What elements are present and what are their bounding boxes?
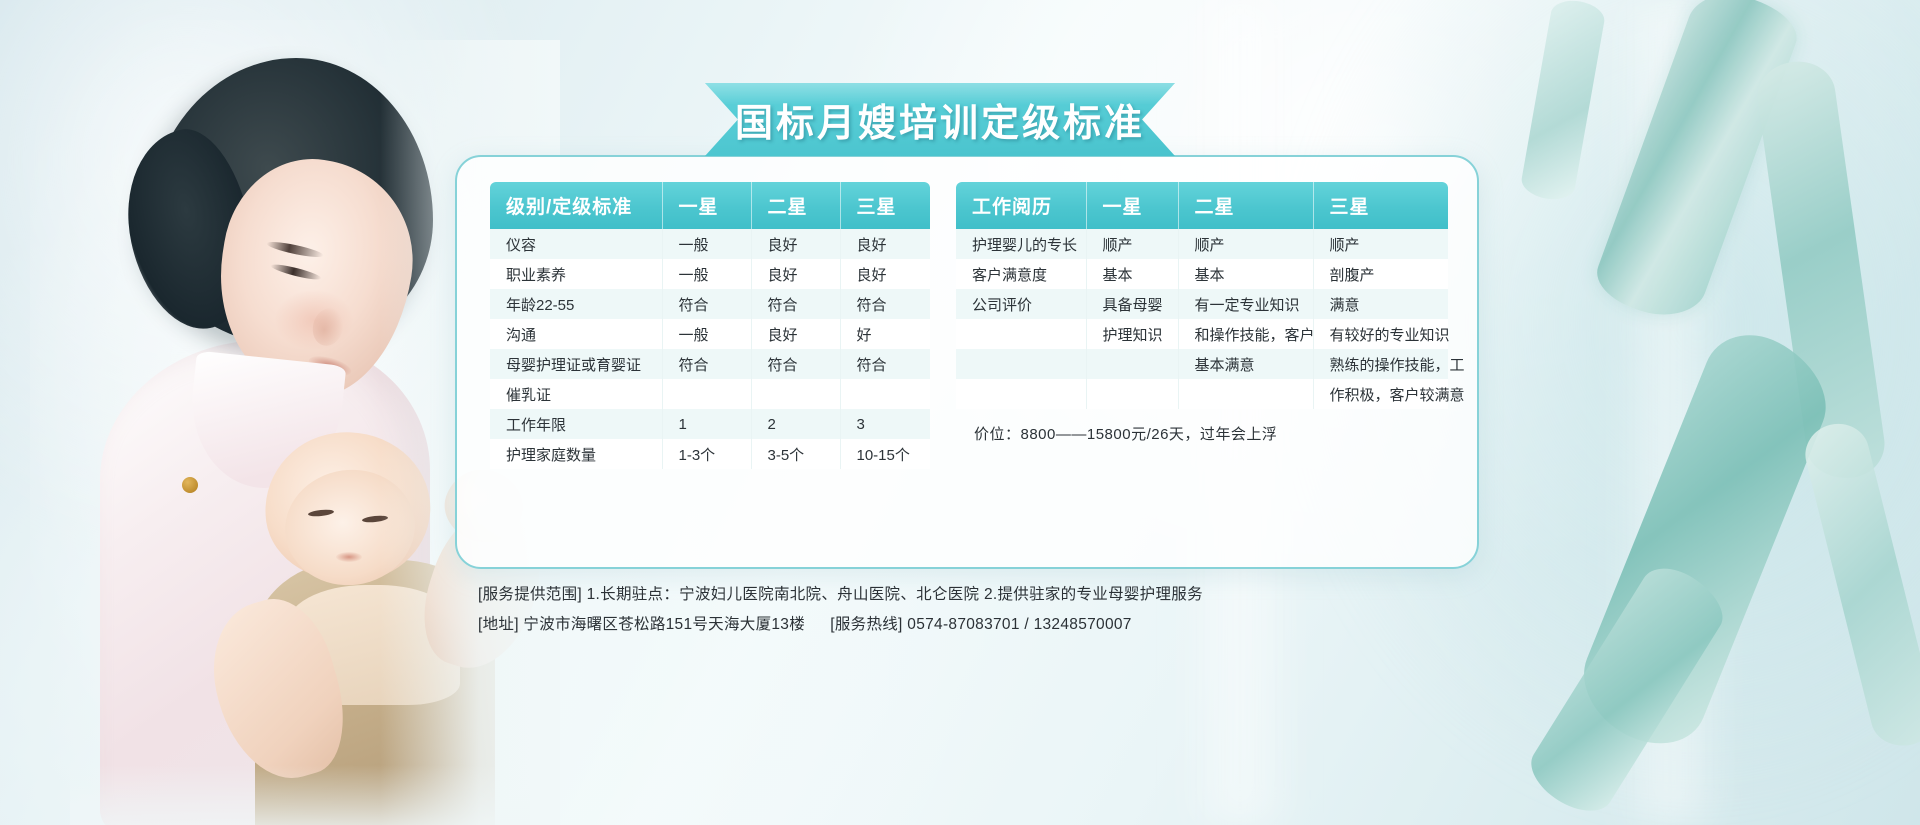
cell-criteria: 催乳证	[490, 379, 662, 409]
cell-criteria: 年龄22-55	[490, 289, 662, 319]
cell-two-star: 和操作技能，客户	[1178, 319, 1313, 349]
cell-one-star: 1-3个	[662, 439, 751, 469]
cell-three-star: 熟练的操作技能，工	[1313, 349, 1448, 379]
left-col-header-three-star: 三星	[840, 182, 930, 229]
table-row: 年龄22-55 符合 符合 符合	[490, 289, 930, 319]
cell-three-star: 有较好的专业知识	[1313, 319, 1448, 349]
cell-experience: 护理婴儿的专长	[956, 229, 1086, 259]
table-row: 仪容 一般 良好 良好	[490, 229, 930, 259]
grading-standard-table: 级别/定级标准 一星 二星 三星 仪容 一般 良好 良好 职业素养	[490, 182, 930, 469]
page-root: 国标月嫂培训定级标准 级别/定级标准 一星 二星 三星	[0, 0, 1920, 825]
cell-one-star: 1	[662, 409, 751, 439]
right-table-header-row: 工作阅历 一星 二星 三星	[956, 182, 1448, 229]
cell-two-star: 有一定专业知识	[1178, 289, 1313, 319]
cell-three-star: 符合	[840, 349, 930, 379]
footer-info: [服务提供范围] 1.长期驻点：宁波妇儿医院南北院、舟山医院、北仑医院 2.提供…	[478, 580, 1203, 640]
cell-three-star	[840, 379, 930, 409]
table-row: 工作年限 1 2 3	[490, 409, 930, 439]
table-row: 催乳证	[490, 379, 930, 409]
cell-three-star: 10-15个	[840, 439, 930, 469]
cell-two-star: 顺产	[1178, 229, 1313, 259]
cell-two-star: 3-5个	[751, 439, 840, 469]
background-streak-2	[1610, 0, 1730, 825]
table-row: 护理婴儿的专长 顺产 顺产 顺产	[956, 229, 1448, 259]
right-table-head: 工作阅历 一星 二星 三星	[956, 182, 1448, 229]
photo-nurse-button	[182, 477, 198, 493]
cell-three-star: 满意	[1313, 289, 1448, 319]
right-table-wrapper: 工作阅历 一星 二星 三星 护理婴儿的专长 顺产 顺产 顺产 客户满意度	[956, 182, 1448, 469]
table-row: 母婴护理证或育婴证 符合 符合 符合	[490, 349, 930, 379]
table-row: 公司评价 具备母婴 有一定专业知识 满意	[956, 289, 1448, 319]
cell-experience: 客户满意度	[956, 259, 1086, 289]
table-row: 沟通 一般 良好 好	[490, 319, 930, 349]
photo-baby-mouth	[336, 552, 362, 562]
cell-three-star: 3	[840, 409, 930, 439]
left-col-header-two-star: 二星	[751, 182, 840, 229]
cell-criteria: 职业素养	[490, 259, 662, 289]
table-row: 护理知识 和操作技能，客户 有较好的专业知识	[956, 319, 1448, 349]
cell-criteria: 仪容	[490, 229, 662, 259]
banner-title-text: 国标月嫂培训定级标准	[705, 83, 1175, 156]
left-col-header-criteria: 级别/定级标准	[490, 182, 662, 229]
cell-two-star: 良好	[751, 229, 840, 259]
cell-experience: 公司评价	[956, 289, 1086, 319]
cell-two-star: 良好	[751, 259, 840, 289]
title-banner: 国标月嫂培训定级标准	[705, 83, 1175, 156]
cell-experience	[956, 379, 1086, 409]
table-row: 职业素养 一般 良好 良好	[490, 259, 930, 289]
left-table-header-row: 级别/定级标准 一星 二星 三星	[490, 182, 930, 229]
cell-one-star: 一般	[662, 319, 751, 349]
cell-two-star: 2	[751, 409, 840, 439]
cell-one-star	[1086, 379, 1178, 409]
footer-address-line: [地址] 宁波市海曙区苍松路151号天海大厦13楼 [服务热线] 0574-87…	[478, 610, 1203, 640]
footer-service-scope: [服务提供范围] 1.长期驻点：宁波妇儿医院南北院、舟山医院、北仑医院 2.提供…	[478, 580, 1203, 610]
footer-hotline: [服务热线] 0574-87083701 / 13248570007	[830, 616, 1131, 633]
cell-two-star: 基本满意	[1178, 349, 1313, 379]
left-table-wrapper: 级别/定级标准 一星 二星 三星 仪容 一般 良好 良好 职业素养	[490, 182, 930, 469]
right-col-header-experience: 工作阅历	[956, 182, 1086, 229]
work-experience-table: 工作阅历 一星 二星 三星 护理婴儿的专长 顺产 顺产 顺产 客户满意度	[956, 182, 1448, 409]
cell-one-star: 一般	[662, 259, 751, 289]
cell-one-star: 护理知识	[1086, 319, 1178, 349]
cell-two-star: 符合	[751, 349, 840, 379]
cell-two-star: 基本	[1178, 259, 1313, 289]
table-row: 客户满意度 基本 基本 剖腹产	[956, 259, 1448, 289]
cell-experience	[956, 319, 1086, 349]
cell-three-star: 作积极，客户较满意	[1313, 379, 1448, 409]
table-row: 基本满意 熟练的操作技能，工	[956, 349, 1448, 379]
cell-three-star: 良好	[840, 259, 930, 289]
cell-one-star: 基本	[1086, 259, 1178, 289]
cell-three-star: 符合	[840, 289, 930, 319]
cell-one-star	[1086, 349, 1178, 379]
right-col-header-one-star: 一星	[1086, 182, 1178, 229]
right-col-header-three-star: 三星	[1313, 182, 1448, 229]
cell-one-star: 顺产	[1086, 229, 1178, 259]
left-col-header-one-star: 一星	[662, 182, 751, 229]
left-table-head: 级别/定级标准 一星 二星 三星	[490, 182, 930, 229]
price-note: 价位：8800——15800元/26天，过年会上浮	[956, 423, 1448, 444]
cell-experience	[956, 349, 1086, 379]
cell-criteria: 母婴护理证或育婴证	[490, 349, 662, 379]
cell-one-star: 符合	[662, 349, 751, 379]
table-row: 护理家庭数量 1-3个 3-5个 10-15个	[490, 439, 930, 469]
photo-fade-bottom	[70, 765, 530, 825]
right-col-header-two-star: 二星	[1178, 182, 1313, 229]
cell-two-star	[1178, 379, 1313, 409]
tables-container: 级别/定级标准 一星 二星 三星 仪容 一般 良好 良好 职业素养	[490, 182, 1448, 469]
cell-one-star	[662, 379, 751, 409]
cell-one-star: 具备母婴	[1086, 289, 1178, 319]
cell-two-star	[751, 379, 840, 409]
cell-criteria: 护理家庭数量	[490, 439, 662, 469]
right-table-body: 护理婴儿的专长 顺产 顺产 顺产 客户满意度 基本 基本 剖腹产 公司评价 具备…	[956, 229, 1448, 409]
cell-three-star: 剖腹产	[1313, 259, 1448, 289]
cell-three-star: 良好	[840, 229, 930, 259]
table-row: 作积极，客户较满意	[956, 379, 1448, 409]
cell-criteria: 工作年限	[490, 409, 662, 439]
left-table-body: 仪容 一般 良好 良好 职业素养 一般 良好 良好 年龄22-55 符合	[490, 229, 930, 469]
cell-two-star: 良好	[751, 319, 840, 349]
cell-three-star: 好	[840, 319, 930, 349]
cell-three-star: 顺产	[1313, 229, 1448, 259]
cell-one-star: 一般	[662, 229, 751, 259]
cell-criteria: 沟通	[490, 319, 662, 349]
footer-address: [地址] 宁波市海曙区苍松路151号天海大厦13楼	[478, 616, 805, 633]
cell-one-star: 符合	[662, 289, 751, 319]
cell-two-star: 符合	[751, 289, 840, 319]
